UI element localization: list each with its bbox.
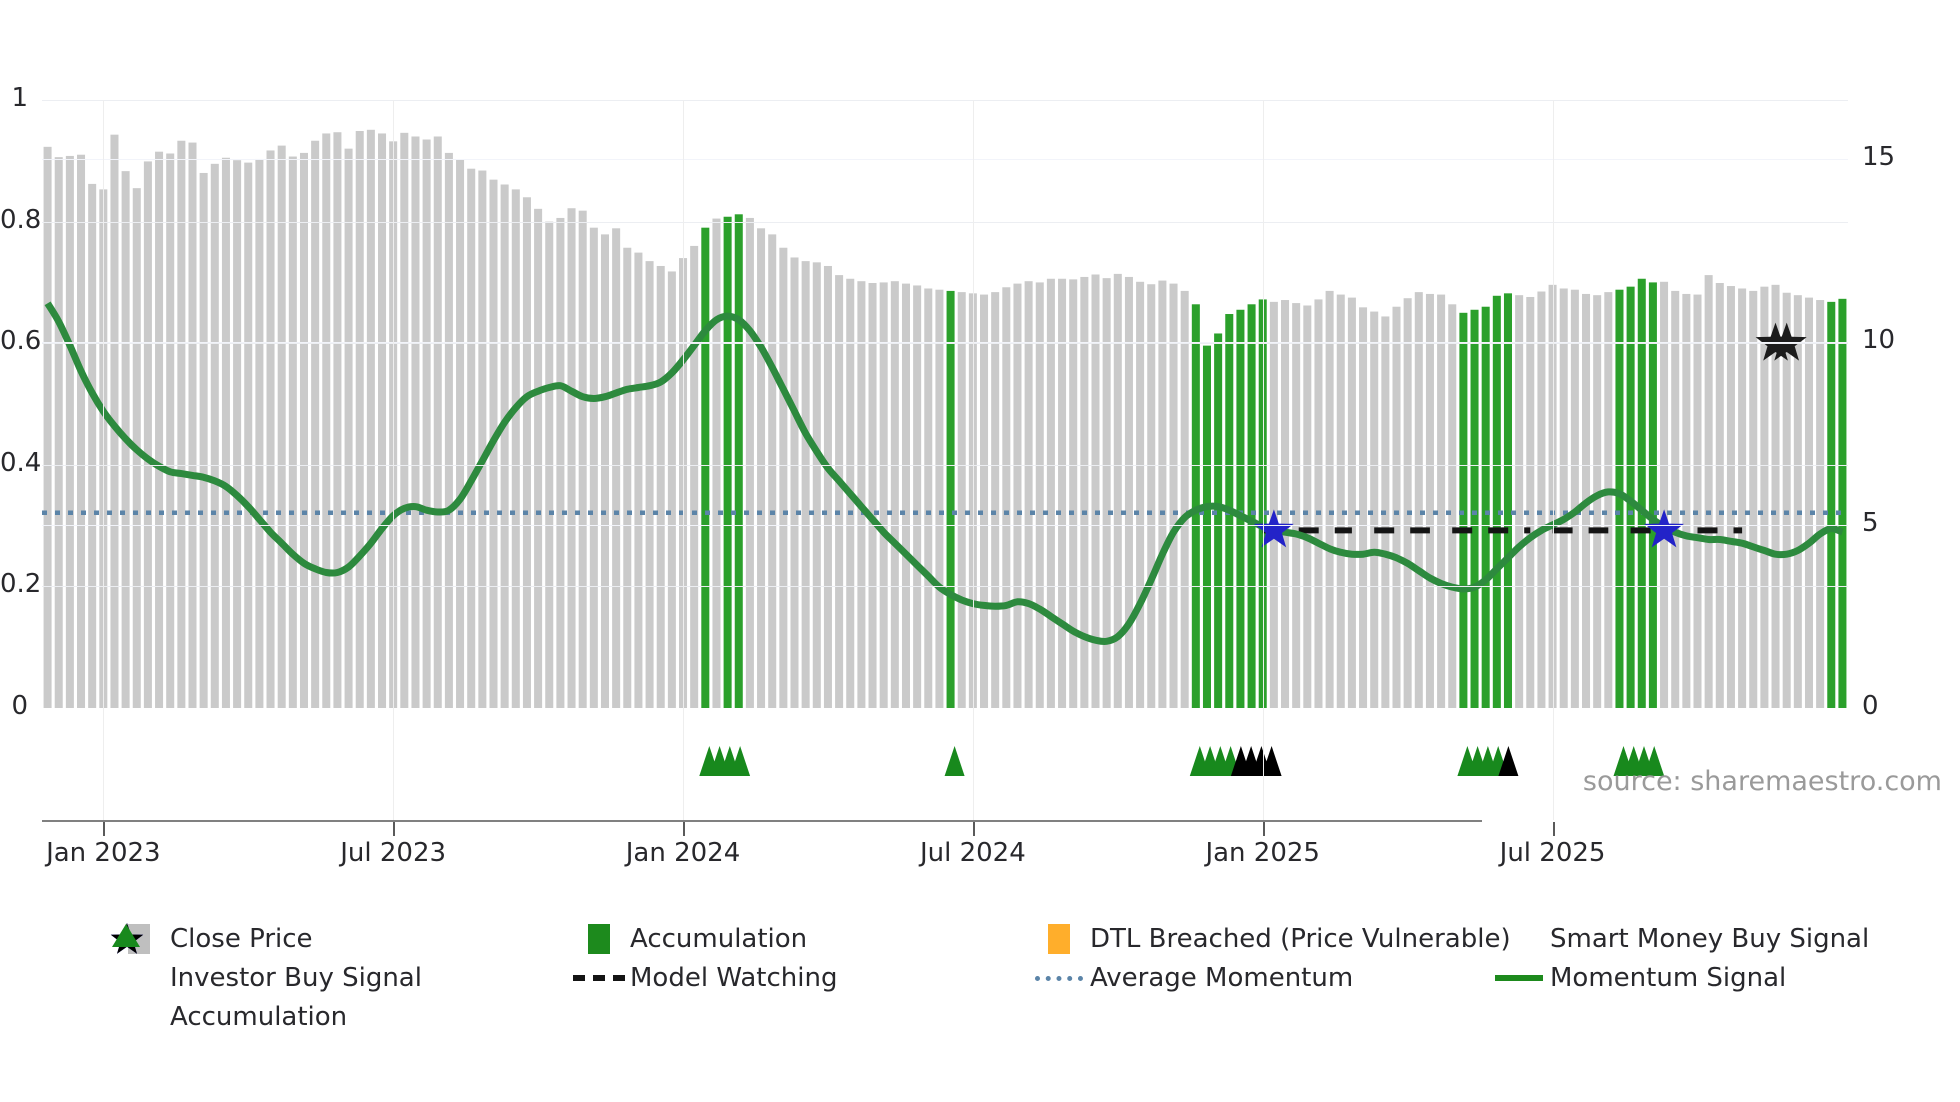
gridline-vertical — [1553, 100, 1554, 820]
close-price-bar — [244, 163, 252, 708]
close-price-bar — [1727, 286, 1735, 708]
close-price-bar — [1660, 282, 1668, 708]
close-price-bar — [579, 211, 587, 708]
close-price-bar — [77, 155, 85, 708]
source-attribution: source: sharemaestro.com — [1583, 766, 1942, 797]
y-axis-left-tick-label: 0 — [0, 691, 28, 721]
chart-root: source: sharemaestro.com Close PriceAccu… — [0, 0, 1960, 1102]
y-axis-left-tick-label: 0.2 — [0, 569, 28, 599]
accumulation-bar — [1493, 296, 1501, 708]
gridline-horizontal-secondary — [42, 525, 1848, 526]
accumulation-bar — [724, 217, 732, 708]
accumulation-bar — [1827, 302, 1835, 708]
close-price-bar — [356, 131, 364, 708]
y-axis-right-tick-label: 15 — [1862, 142, 1932, 172]
close-price-bar — [1392, 307, 1400, 708]
close-price-bar — [66, 156, 74, 708]
accumulation-bar — [1471, 310, 1479, 708]
close-price-bar — [1281, 300, 1289, 708]
close-price-bar — [790, 257, 798, 708]
y-axis-left-tick-label: 0.4 — [0, 448, 28, 478]
legend-item-smart-money-buy-signal[interactable]: Smart Money Buy Signal — [1488, 920, 1948, 958]
close-price-bar — [1682, 294, 1690, 708]
close-price-bar — [1013, 284, 1021, 708]
close-price-bar — [668, 271, 676, 708]
legend-item-investor-buy-signal[interactable]: Investor Buy Signal — [108, 959, 568, 997]
close-price-bar — [1359, 307, 1367, 708]
legend-item-average-momentum[interactable]: Average Momentum — [1028, 959, 1488, 997]
gridline-vertical — [393, 100, 394, 820]
gridline-horizontal — [42, 586, 1848, 587]
close-price-bar — [813, 262, 821, 708]
close-price-bar — [1515, 295, 1523, 708]
x-axis-tick — [393, 822, 395, 836]
legend-item-accumulation-marker[interactable]: Accumulation — [108, 998, 568, 1036]
x-axis-tick — [973, 822, 975, 836]
accumulation-bar — [1482, 307, 1490, 708]
legend-label: Smart Money Buy Signal — [1550, 924, 1869, 954]
close-price-bar — [1114, 274, 1122, 708]
legend-label: Investor Buy Signal — [170, 963, 422, 993]
accumulation-bar — [1236, 310, 1244, 708]
accumulation-triangle-marker — [945, 746, 965, 776]
dotted-line-icon — [1035, 976, 1083, 981]
accumulation-bar — [1649, 282, 1657, 708]
close-price-bar — [1716, 283, 1724, 708]
legend-marker-investor-buy-signal-icon — [108, 959, 170, 997]
close-price-bar — [333, 132, 341, 708]
close-price-bar — [1270, 302, 1278, 708]
legend-label: Model Watching — [630, 963, 837, 993]
close-price-bar — [1571, 290, 1579, 708]
close-price-bar — [166, 154, 174, 709]
y-axis-right-tick-label: 5 — [1862, 508, 1932, 538]
legend-marker-momentum-signal-icon — [1488, 959, 1550, 997]
close-price-bar — [1036, 282, 1044, 708]
y-axis-left-tick-label: 0.8 — [0, 205, 28, 235]
close-price-bar — [958, 292, 966, 708]
legend-item-momentum-signal[interactable]: Momentum Signal — [1488, 959, 1948, 997]
close-price-bar — [278, 146, 286, 708]
close-price-bar — [612, 228, 620, 708]
x-axis-tick-label: Jan 2023 — [0, 838, 213, 868]
close-price-bar — [1593, 295, 1601, 708]
close-price-bar — [1337, 295, 1345, 708]
close-price-bar — [835, 275, 843, 708]
gridline-horizontal — [42, 465, 1848, 466]
legend-marker-average-momentum-icon — [1028, 959, 1090, 997]
close-price-bar — [255, 159, 263, 708]
close-price-bar — [712, 219, 720, 708]
close-price-bar — [1170, 284, 1178, 708]
legend-item-model-watching[interactable]: Model Watching — [568, 959, 1028, 997]
close-price-bar — [1326, 291, 1334, 708]
close-price-bar — [1303, 306, 1311, 709]
triangle-icon — [108, 920, 144, 952]
close-price-bar — [1560, 288, 1568, 708]
close-price-bar — [1314, 299, 1322, 708]
gridline-horizontal-secondary — [42, 342, 1848, 343]
close-price-bar — [211, 164, 219, 708]
close-price-bar — [1749, 291, 1757, 708]
close-price-bar — [880, 282, 888, 708]
close-price-bar — [1136, 282, 1144, 708]
legend-marker-accumulation-bar-icon — [568, 920, 630, 958]
close-price-bar — [657, 266, 665, 708]
close-price-bar — [1671, 291, 1679, 708]
close-price-bar — [634, 253, 642, 708]
close-price-bar — [623, 248, 631, 708]
close-price-bar — [478, 171, 486, 708]
close-price-bar — [188, 143, 196, 708]
x-axis-tick-label: Jan 2024 — [573, 838, 793, 868]
close-price-bar — [177, 141, 185, 708]
close-price-bar — [1805, 298, 1813, 708]
gridline-vertical — [683, 100, 684, 820]
close-price-bar — [345, 149, 353, 708]
accumulation-bar — [701, 228, 709, 708]
close-price-bar — [857, 281, 865, 708]
close-price-bar — [1537, 292, 1545, 708]
close-price-bar — [768, 234, 776, 708]
legend-label: Accumulation — [630, 924, 807, 954]
close-price-bar — [445, 153, 453, 708]
close-price-bar — [1181, 291, 1189, 708]
close-price-bar — [913, 285, 921, 708]
close-price-bar — [1292, 303, 1300, 708]
close-price-bar — [400, 133, 408, 708]
close-price-bar — [512, 189, 520, 708]
accumulation-bar — [1504, 293, 1512, 708]
close-price-bar — [289, 157, 297, 708]
x-axis-tick — [103, 822, 105, 836]
close-price-bar — [802, 261, 810, 708]
close-price-bar — [568, 208, 576, 708]
close-price-bar — [1526, 297, 1534, 708]
x-axis-tick-label: Jul 2025 — [1443, 838, 1663, 868]
close-price-bar — [267, 150, 275, 708]
close-price-bar — [1705, 275, 1713, 708]
accumulation-bar — [1459, 313, 1467, 708]
gridline-horizontal-secondary — [42, 159, 1848, 160]
close-price-bar — [779, 248, 787, 708]
close-price-bar — [1158, 281, 1166, 708]
legend-item-dtl-breached[interactable]: DTL Breached (Price Vulnerable) — [1028, 920, 1488, 958]
close-price-bar — [1147, 284, 1155, 708]
close-price-bar — [869, 283, 877, 708]
close-price-bar — [980, 295, 988, 708]
legend-label: Momentum Signal — [1550, 963, 1786, 993]
legend-label: Accumulation — [170, 1002, 347, 1032]
close-price-bar — [590, 228, 598, 708]
close-price-bar — [233, 160, 241, 708]
close-price-bar — [1693, 295, 1701, 708]
dashed-line-icon — [573, 975, 625, 981]
close-price-bar — [378, 133, 386, 708]
x-axis-tick-label: Jul 2023 — [283, 838, 503, 868]
triangle-shape — [112, 924, 140, 947]
close-price-bar — [501, 185, 509, 708]
close-price-bar — [144, 161, 152, 708]
legend-label: DTL Breached (Price Vulnerable) — [1090, 924, 1511, 954]
legend-label: Average Momentum — [1090, 963, 1353, 993]
close-price-bar — [534, 209, 542, 708]
close-price-bar — [757, 228, 765, 708]
close-price-bar — [322, 133, 330, 708]
x-axis-tick-label: Jan 2025 — [1153, 838, 1373, 868]
close-price-bar — [1604, 292, 1612, 708]
accumulation-bar — [1214, 333, 1222, 708]
close-price-bar — [891, 281, 899, 708]
close-price-bar — [1816, 300, 1824, 708]
chart-legend: Close PriceAccumulationDTL Breached (Pri… — [108, 920, 1948, 1036]
close-price-bar — [556, 218, 564, 708]
solid-line-icon — [1495, 975, 1543, 981]
legend-marker-smart-money-buy-signal-icon — [1488, 920, 1550, 958]
accumulation-bar — [1203, 346, 1211, 708]
x-axis-tick — [1263, 822, 1265, 836]
x-axis-tick — [683, 822, 685, 836]
close-price-bar — [1002, 287, 1010, 708]
close-price-bar — [824, 266, 832, 708]
close-price-bar — [523, 197, 531, 708]
close-price-bar — [200, 173, 208, 708]
x-axis-tick — [1553, 822, 1555, 836]
square-swatch-icon — [1048, 924, 1070, 954]
legend-marker-dtl-breached-icon — [1028, 920, 1090, 958]
close-price-bar — [456, 160, 464, 708]
close-price-bar — [1437, 295, 1445, 708]
close-price-bar — [601, 234, 609, 708]
close-price-bar — [300, 153, 308, 708]
close-price-bar — [935, 290, 943, 708]
legend-marker-model-watching-icon — [568, 959, 630, 997]
gridline-vertical — [1263, 100, 1264, 820]
gridline-horizontal — [42, 222, 1848, 223]
close-price-bar — [222, 158, 230, 708]
gridline-horizontal — [42, 100, 1848, 101]
accumulation-bar — [1838, 299, 1846, 708]
close-price-bar — [1348, 298, 1356, 708]
close-price-bar — [1738, 288, 1746, 708]
close-price-bar — [646, 261, 654, 708]
close-price-bar — [924, 288, 932, 708]
close-price-bar — [55, 157, 63, 708]
accumulation-bar — [947, 291, 955, 708]
gridline-horizontal — [42, 343, 1848, 344]
close-price-bar — [1448, 304, 1456, 708]
accumulation-bar — [1248, 304, 1256, 708]
legend-item-close-price[interactable]: Close Price — [108, 920, 568, 958]
y-axis-right-tick-label: 0 — [1862, 691, 1932, 721]
close-price-bar — [1370, 312, 1378, 708]
close-price-bar — [367, 130, 375, 708]
close-price-bar — [1404, 298, 1412, 708]
y-axis-left-tick-label: 0.6 — [0, 326, 28, 356]
legend-item-accumulation-bar[interactable]: Accumulation — [568, 920, 1028, 958]
close-price-bar — [991, 292, 999, 708]
x-axis-line — [42, 820, 1482, 822]
close-price-bar — [423, 140, 431, 708]
y-axis-left-tick-label: 1 — [0, 83, 28, 113]
close-price-bar — [690, 246, 698, 708]
close-price-bar — [44, 147, 52, 708]
accumulation-bar — [735, 214, 743, 708]
x-axis-tick-label: Jul 2024 — [863, 838, 1083, 868]
close-price-bar — [155, 152, 163, 708]
close-price-bar — [1415, 292, 1423, 708]
close-price-bar — [88, 184, 96, 708]
gridline-vertical — [103, 100, 104, 820]
close-price-bar — [311, 141, 319, 708]
square-swatch-icon — [588, 924, 610, 954]
close-price-bar — [902, 284, 910, 708]
gridline-vertical — [973, 100, 974, 820]
close-price-bar — [746, 218, 754, 708]
close-price-bar — [1426, 294, 1434, 708]
legend-label: Close Price — [170, 924, 313, 954]
close-price-bar — [467, 169, 475, 708]
y-axis-right-tick-label: 10 — [1862, 325, 1932, 355]
legend-marker-accumulation-marker-icon — [108, 998, 170, 1036]
close-price-bar — [1025, 281, 1033, 708]
